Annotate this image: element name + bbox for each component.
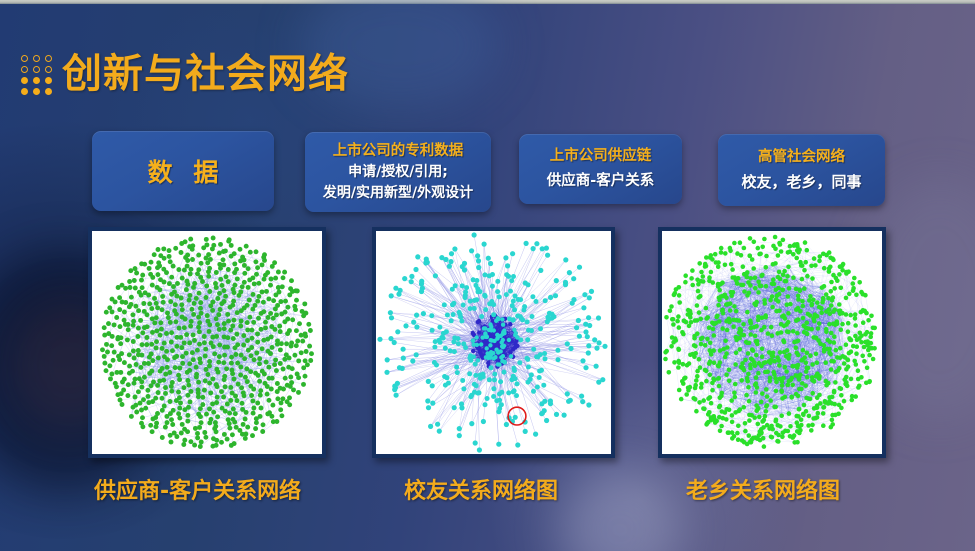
alumni-network-graph (376, 231, 611, 454)
patent-data-header: 上市公司的专利数据 (333, 141, 464, 162)
background-silhouette-center (560, 470, 680, 551)
data-label-text: 数 据 (142, 153, 225, 189)
alumni-network-panel[interactable] (372, 227, 615, 458)
top-edge-strip (0, 0, 975, 4)
slide-root: 创新与社会网络 数 据 上市公司的专利数据 申请/授权/引用; 发明/实用新型/… (0, 0, 975, 551)
patent-data-box[interactable]: 上市公司的专利数据 申请/授权/引用; 发明/实用新型/外观设计 (305, 132, 491, 212)
hometown-network-graph (662, 231, 882, 454)
data-label-box[interactable]: 数 据 (92, 131, 274, 211)
page-title-text: 创新与社会网络 (62, 54, 349, 94)
supply-chain-box[interactable]: 上市公司供应链 供应商-客户关系 (519, 134, 682, 204)
supplier-network-panel[interactable] (88, 227, 326, 458)
supply-chain-header: 上市公司供应链 (550, 144, 652, 169)
supplier-network-caption: 供应商-客户关系网络 (94, 473, 301, 505)
executive-network-box[interactable]: 高管社会网络 校友，老乡，同事 (718, 134, 885, 206)
hometown-network-panel[interactable] (658, 227, 886, 458)
supply-chain-line-1: 供应商-客户关系 (547, 169, 655, 194)
page-title: 创新与社会网络 (18, 50, 349, 98)
executive-network-header: 高管社会网络 (758, 145, 845, 170)
hometown-network-caption: 老乡关系网络图 (686, 473, 840, 505)
dot-grid-icon (18, 54, 54, 98)
patent-data-line-2: 发明/实用新型/外观设计 (323, 183, 473, 203)
patent-data-line-1: 申请/授权/引用; (348, 162, 448, 182)
alumni-network-caption: 校友关系网络图 (404, 473, 558, 505)
supplier-network-graph (92, 231, 322, 454)
executive-network-line-1: 校友，老乡，同事 (741, 170, 861, 196)
